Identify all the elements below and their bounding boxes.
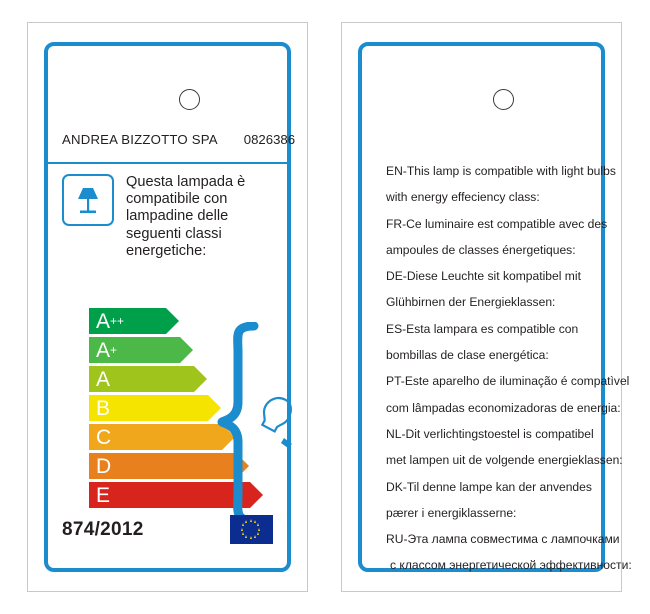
energy-class-plus: + bbox=[110, 344, 117, 356]
energy-class-label: C bbox=[96, 427, 111, 448]
energy-class-arrow: A bbox=[89, 366, 207, 392]
language-line: RU-Эта лампа совместима с лампочками bbox=[386, 526, 585, 552]
intro-section: Questa lampada è compatibile con lampadi… bbox=[62, 174, 271, 260]
language-line: com lâmpadas economizadoras de energia: bbox=[386, 395, 585, 421]
language-line: EN-This lamp is compatible with light bu… bbox=[386, 158, 585, 184]
language-line: NL-Dit verlichtingstoestel is compatibel bbox=[386, 421, 585, 447]
language-line: with energy effeciency class: bbox=[386, 184, 585, 210]
eu-star bbox=[250, 519, 252, 522]
eu-star bbox=[242, 532, 244, 535]
brand-header-row: ANDREA BIZZOTTO SPA 0826386 bbox=[48, 132, 287, 164]
language-line: bombillas de clase energética: bbox=[386, 342, 585, 368]
energy-class-arrow: C bbox=[89, 424, 235, 450]
eu-star bbox=[254, 520, 256, 523]
hole-punch-icon bbox=[493, 89, 514, 110]
eu-star bbox=[245, 535, 247, 538]
eu-star bbox=[254, 535, 256, 538]
eu-star bbox=[257, 532, 259, 535]
energy-class-label: A bbox=[96, 369, 110, 390]
language-line: ES-Esta lampara es compatible con bbox=[386, 316, 585, 342]
multilingual-text-block: EN-This lamp is compatible with light bu… bbox=[386, 158, 585, 579]
energy-class-plus: ++ bbox=[110, 315, 124, 327]
footer-row: 874/2012 bbox=[62, 515, 273, 544]
regulation-number: 874/2012 bbox=[62, 519, 144, 541]
eu-star bbox=[241, 528, 243, 531]
blue-border-frame: EN-This lamp is compatible with light bu… bbox=[358, 42, 605, 572]
energy-class-arrow: B bbox=[89, 395, 221, 421]
eu-flag-icon bbox=[230, 515, 273, 544]
language-line: DE-Diese Leuchte sit kompatibel mit bbox=[386, 263, 585, 289]
energy-class-arrow: A++ bbox=[89, 308, 179, 334]
brand-name: ANDREA BIZZOTTO SPA bbox=[62, 132, 218, 147]
intro-text: Questa lampada è compatibile con lampadi… bbox=[126, 174, 271, 260]
tag-front-card: ANDREA BIZZOTTO SPA 0826386 Questa lampa… bbox=[27, 22, 308, 592]
blue-border-frame: ANDREA BIZZOTTO SPA 0826386 Questa lampa… bbox=[44, 42, 291, 572]
language-line: PT-Este aparelho de iluminação é compatì… bbox=[386, 368, 585, 394]
energy-class-label: D bbox=[96, 456, 111, 477]
eu-star bbox=[258, 528, 260, 531]
language-line: с классом энергетической эффективности: bbox=[386, 552, 585, 578]
language-line: FR-Ce luminaire est compatible avec des bbox=[386, 211, 585, 237]
product-code: 0826386 bbox=[244, 132, 295, 147]
tag-back-card: EN-This lamp is compatible with light bu… bbox=[341, 22, 622, 592]
eu-star bbox=[250, 536, 252, 539]
table-lamp-icon bbox=[62, 174, 114, 226]
language-line: DK-Til denne lampe kan der anvendes bbox=[386, 474, 585, 500]
eu-star bbox=[257, 523, 259, 526]
language-line: Glühbirnen der Energieklassen: bbox=[386, 289, 585, 315]
energy-class-label: E bbox=[96, 485, 110, 506]
energy-class-arrow: A+ bbox=[89, 337, 193, 363]
eu-star bbox=[242, 523, 244, 526]
language-line: met lampen uit de volgende energieklasse… bbox=[386, 447, 585, 473]
energy-class-label: A bbox=[96, 340, 110, 361]
energy-class-label: A bbox=[96, 311, 110, 332]
language-line: ampoules de classes énergetiques: bbox=[386, 237, 585, 263]
curly-brace-icon bbox=[216, 322, 316, 527]
energy-class-label: B bbox=[96, 398, 110, 419]
hole-punch-icon bbox=[179, 89, 200, 110]
language-line: pærer i energiklasserne: bbox=[386, 500, 585, 526]
eu-star bbox=[245, 520, 247, 523]
